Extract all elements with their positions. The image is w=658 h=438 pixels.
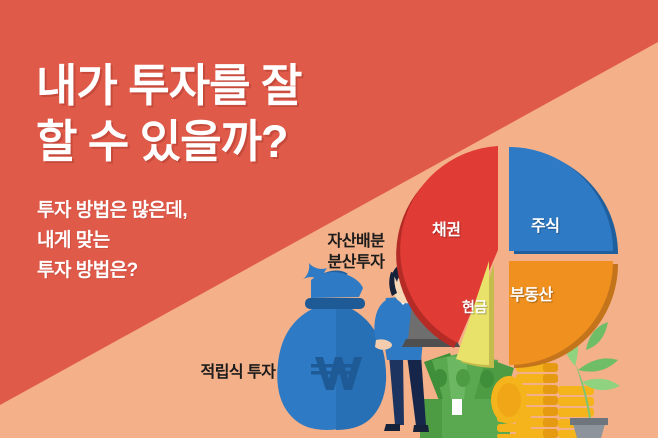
page-subtitle: 투자 방법은 많은데, 내게 맞는 투자 방법은? [37, 196, 187, 286]
poster-canvas: 내가 투자를 잘 할 수 있을까? 투자 방법은 많은데, 내게 맞는 투자 방… [0, 0, 658, 438]
pie-label-stock: 주식 [531, 212, 559, 236]
pie-slice-real-estate[interactable] [509, 261, 618, 368]
asset-allocation-pie-chart [388, 128, 658, 378]
annotation-regular-investment: 적립식 투자 [178, 362, 298, 383]
pie-label-real-estate: 부동산 [510, 281, 553, 305]
pie-label-bond: 채권 [432, 216, 460, 240]
annotation-asset-allocation: 자산배분 분산투자 [296, 231, 416, 273]
pie-label-cash: 현금 [462, 297, 487, 317]
pie-slice-stock[interactable] [509, 147, 618, 254]
page-title: 내가 투자를 잘 할 수 있을까? [36, 58, 301, 170]
